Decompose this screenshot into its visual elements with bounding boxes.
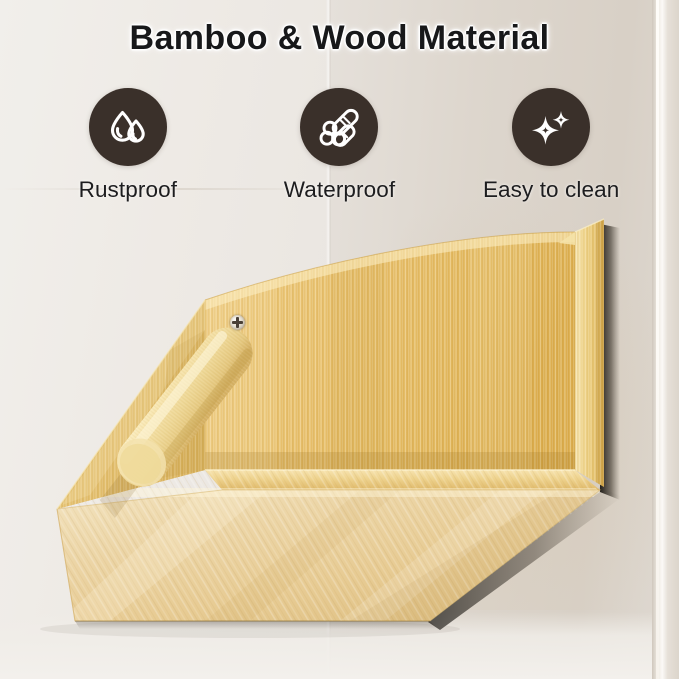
feature-label-waterproof: Waterproof: [284, 177, 395, 203]
feature-item-easy-to-clean: Easy to clean: [461, 88, 641, 203]
mounting-screw-icon: [230, 315, 245, 330]
feature-label-easy-to-clean: Easy to clean: [483, 177, 619, 203]
water-droplets-icon: [105, 104, 151, 150]
wall-warm-light-pool: [400, 180, 659, 610]
product-feature-image: Bamboo & Wood Material: [0, 0, 679, 679]
feature-item-waterproof: Waterproof: [249, 88, 429, 203]
sparkles-icon: [528, 104, 574, 150]
easy-to-clean-badge: [512, 88, 590, 166]
wall-lower-band: [0, 612, 659, 679]
page-title: Bamboo & Wood Material: [0, 19, 679, 58]
waterproof-badge: [300, 88, 378, 166]
feature-list: Rustproof: [0, 88, 679, 203]
feature-label-rustproof: Rustproof: [79, 177, 177, 203]
rustproof-badge: [89, 88, 167, 166]
wood-logs-icon: [316, 104, 362, 150]
feature-item-rustproof: Rustproof: [38, 88, 218, 203]
